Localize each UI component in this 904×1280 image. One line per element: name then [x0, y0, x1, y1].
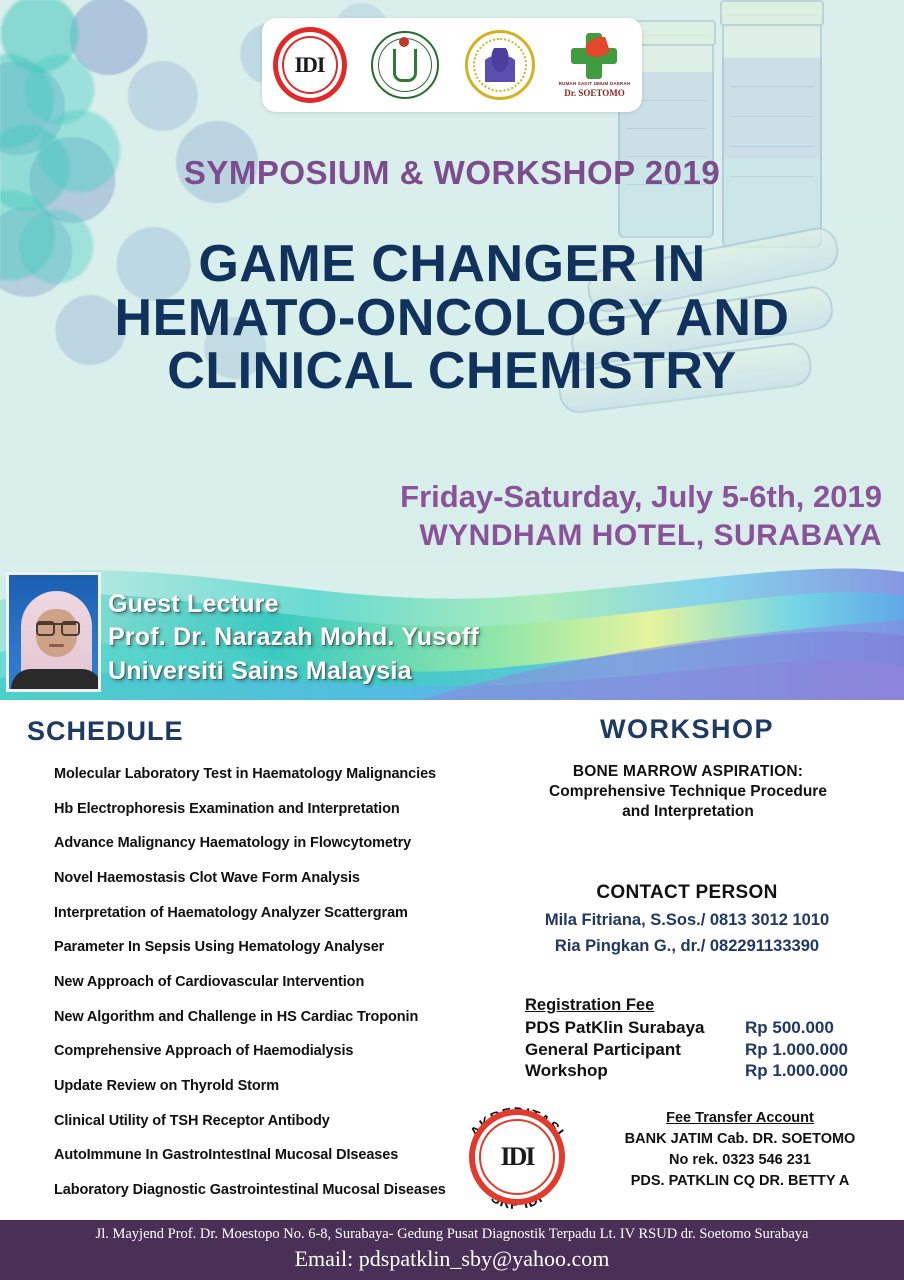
specimen-container-icon — [722, 14, 822, 248]
event-date: Friday-Saturday, July 5-6th, 2019 — [0, 478, 882, 517]
workshop-description: BONE MARROW ASPIRATION: Comprehensive Te… — [486, 762, 890, 821]
event-venue: WYNDHAM HOTEL, SURABAYA — [0, 517, 882, 555]
list-item: Parameter In Sepsis Using Hematology Ana… — [54, 939, 506, 956]
contact-person-1: Mila Fitriana, S.Sos./ 0813 3012 1010 — [470, 908, 904, 934]
poster-body: SCHEDULE Molecular Laboratory Test in Ha… — [0, 700, 904, 1220]
list-item: Molecular Laboratory Test in Haematology… — [54, 766, 506, 783]
list-item: Interpretation of Haematology Analyzer S… — [54, 905, 506, 922]
list-item: Novel Haemostasis Clot Wave Form Analysi… — [54, 870, 506, 887]
event-date-venue: Friday-Saturday, July 5-6th, 2019 WYNDHA… — [0, 478, 904, 554]
contact-person-2: Ria Pingkan G., dr./ 082291133390 — [470, 934, 904, 960]
rsud-dr-soetomo-logo: RUMAH SAKIT UMUM DAERAH Dr. SOETOMO — [558, 28, 632, 102]
list-item: Advance Malignancy Haematology in Flowcy… — [54, 835, 506, 852]
registration-fee-table: Registration Fee PDS PatKlin Surabaya Rp… — [525, 996, 895, 1082]
idi-logo: IDI — [273, 28, 347, 102]
bank-account-number: No rek. 0323 546 231 — [590, 1150, 890, 1171]
registration-fee-title: Registration Fee — [525, 996, 895, 1015]
title-line-2: HEMATO-ONCOLOGY AND — [0, 292, 904, 346]
speaker-portrait — [6, 572, 101, 692]
flame-icon — [577, 34, 613, 66]
table-row: General Participant Rp 1.000.000 — [525, 1039, 895, 1061]
speaker-name: Prof. Dr. Narazah Mohd. Yusoff — [108, 621, 668, 654]
speaker-role: Guest Lecture — [108, 588, 668, 621]
idi-logo-glyph: IDI — [294, 52, 324, 78]
accreditation-badge: AKREDITASI SKP IDI IDI — [458, 1098, 576, 1216]
workshop-title: BONE MARROW ASPIRATION: — [486, 762, 890, 782]
fee-amount: Rp 1.000.000 — [745, 1039, 895, 1061]
fee-label: Workshop — [525, 1060, 608, 1082]
list-item: Update Review on Thyrold Storm — [54, 1078, 506, 1095]
footer-email[interactable]: Email: pdspatklin_sby@yahoo.com — [295, 1246, 610, 1272]
bank-transfer-info: Fee Transfer Account BANK JATIM Cab. DR.… — [590, 1108, 890, 1192]
idi-badge-glyph: IDI — [486, 1126, 548, 1188]
list-item: New Approach of Cardiovascular Intervent… — [54, 974, 506, 991]
footer-address: Jl. Mayjend Prof. Dr. Moestopo No. 6-8, … — [96, 1227, 809, 1243]
schedule-list: Molecular Laboratory Test in Haematology… — [14, 766, 506, 1217]
universitas-airlangga-logo — [463, 28, 537, 102]
schedule-heading: SCHEDULE — [27, 716, 184, 747]
list-item: Laboratory Diagnostic Gastrointestinal M… — [54, 1182, 506, 1199]
workshop-subtitle-line-2: and Interpretation — [486, 802, 890, 822]
fee-amount: Rp 1.000.000 — [745, 1060, 895, 1082]
table-row: PDS PatKlin Surabaya Rp 500.000 — [525, 1017, 895, 1039]
list-item: AutoImmune In GastroIntestInal Mucosal D… — [54, 1147, 506, 1164]
bank-name: BANK JATIM Cab. DR. SOETOMO — [590, 1129, 890, 1150]
fee-label: General Participant — [525, 1039, 681, 1061]
contact-list: Mila Fitriana, S.Sos./ 0813 3012 1010 Ri… — [470, 908, 904, 959]
event-kicker: SYMPOSIUM & WORKSHOP 2019 — [0, 156, 904, 189]
bank-account-holder: PDS. PATKLIN CQ DR. BETTY A — [590, 1171, 890, 1192]
speaker-affiliation: Universiti Sains Malaysia — [108, 655, 668, 688]
bank-transfer-title: Fee Transfer Account — [590, 1108, 890, 1129]
speaker-info: Guest Lecture Prof. Dr. Narazah Mohd. Yu… — [108, 588, 668, 688]
page-title: GAME CHANGER IN HEMATO-ONCOLOGY AND CLIN… — [0, 238, 904, 399]
contact-heading: CONTACT PERSON — [470, 882, 904, 904]
poster-footer: Jl. Mayjend Prof. Dr. Moestopo No. 6-8, … — [0, 1220, 904, 1280]
list-item: Hb Electrophoresis Examination and Inter… — [54, 801, 506, 818]
soetomo-logo-subtext: RUMAH SAKIT UMUM DAERAH — [559, 81, 631, 86]
container-cap-icon — [720, 0, 824, 26]
workshop-subtitle-line-1: Comprehensive Technique Procedure — [486, 782, 890, 802]
title-line-3: CLINICAL CHEMISTRY — [0, 345, 904, 399]
pds-patklin-logo — [368, 28, 442, 102]
list-item: Comprehensive Approach of Haemodialysis — [54, 1043, 506, 1060]
event-poster: IDI RUMAH SAKIT UMUM DAERAH Dr. SOETOMO … — [0, 0, 904, 1280]
title-line-1: GAME CHANGER IN — [0, 238, 904, 292]
soetomo-logo-name: Dr. SOETOMO — [564, 88, 625, 98]
list-item: New Algorithm and Challenge in HS Cardia… — [54, 1009, 506, 1026]
organizer-logo-strip: IDI RUMAH SAKIT UMUM DAERAH Dr. SOETOMO — [262, 18, 642, 112]
list-item: Clinical Utility of TSH Receptor Antibod… — [54, 1113, 506, 1130]
table-row: Workshop Rp 1.000.000 — [525, 1060, 895, 1082]
workshop-heading: WORKSHOP — [470, 714, 904, 745]
fee-amount: Rp 500.000 — [745, 1017, 895, 1039]
fee-label: PDS PatKlin Surabaya — [525, 1017, 705, 1039]
